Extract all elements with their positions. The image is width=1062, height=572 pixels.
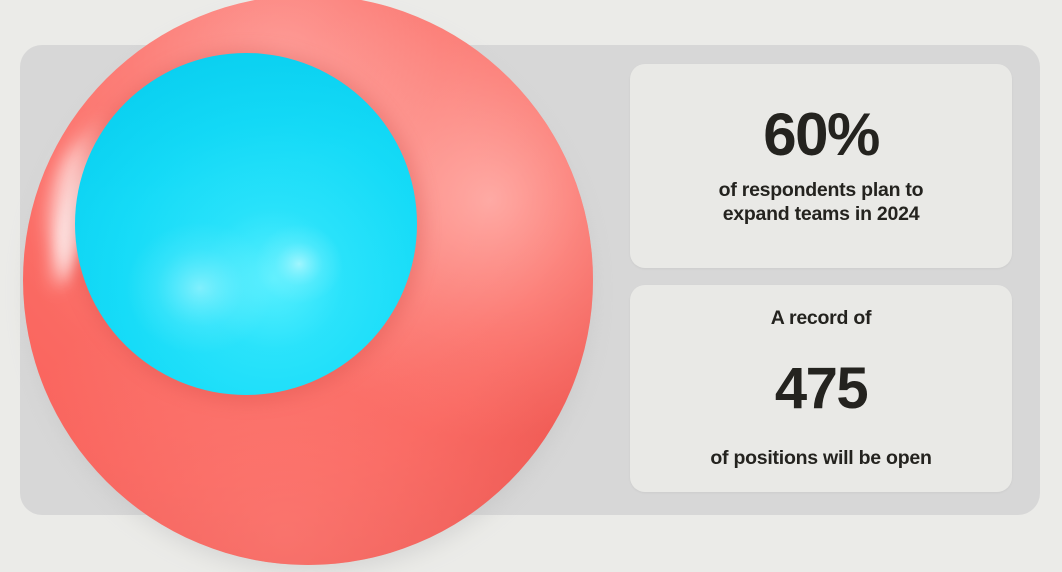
stat-lead-a-record-of: A record of (771, 307, 872, 330)
stat-card-respondents: 60% of respondents plan to expand teams … (630, 64, 1012, 268)
stat-caption-respondents-line2: expand teams in 2024 (719, 203, 924, 227)
stat-value-475: 475 (775, 360, 867, 418)
stat-card-column: 60% of respondents plan to expand teams … (630, 64, 1012, 492)
infographic-root: 60% of respondents plan to expand teams … (0, 0, 1062, 572)
stat-card-positions: A record of 475 of positions will be ope… (630, 285, 1012, 492)
stat-value-60-percent: 60% (763, 105, 879, 165)
stat-caption-positions: of positions will be open (710, 447, 931, 470)
stat-caption-respondents-line1: of respondents plan to (719, 179, 924, 203)
stat-caption-respondents: of respondents plan to expand teams in 2… (719, 179, 924, 227)
